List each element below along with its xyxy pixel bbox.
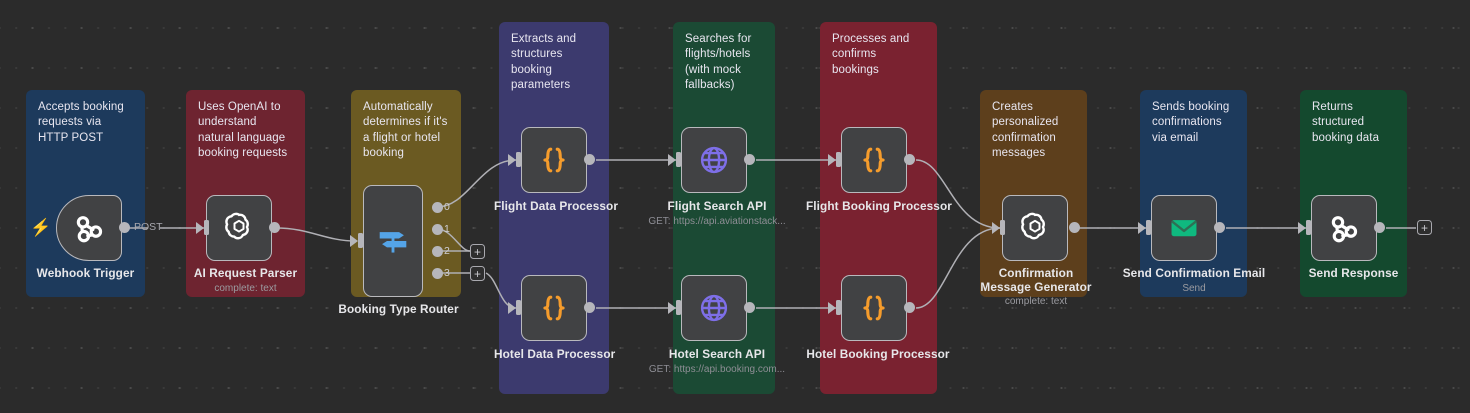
- port-in-email[interactable]: [1146, 220, 1151, 235]
- sticky-note-text: Accepts booking requests via HTTP POST: [38, 101, 124, 144]
- node-subtitle-ai-request-parser: complete: text: [186, 283, 305, 294]
- connector-label-post: POST: [134, 221, 163, 233]
- port-in-hotel-booking[interactable]: [836, 300, 841, 315]
- port-out-flight-search[interactable]: [744, 154, 755, 165]
- port-in-flight-data[interactable]: [516, 152, 521, 167]
- node-label-booking-type-router: Booking Type Router: [336, 302, 461, 316]
- port-number-3: 3: [444, 267, 450, 279]
- sticky-note-text: Returns structured booking data: [1312, 101, 1379, 144]
- port-out-hotel-data[interactable]: [584, 302, 595, 313]
- port-in-arrow-router: [350, 235, 358, 247]
- port-number-0: 0: [444, 201, 450, 213]
- node-label-flight-search-api: Flight Search API: [654, 199, 780, 213]
- openai-icon: [1017, 210, 1053, 246]
- port-out-confirmation[interactable]: [1069, 222, 1080, 233]
- node-confirmation-message-generator[interactable]: [1002, 195, 1068, 261]
- port-in-hotel-search[interactable]: [676, 300, 681, 315]
- sticky-note-text: Sends booking confirmations via email: [1152, 101, 1229, 144]
- port-in-arrow-confirmation: [992, 222, 1000, 234]
- node-send-confirmation-email[interactable]: [1151, 195, 1217, 261]
- add-node-label: +: [474, 246, 481, 258]
- globe-icon: [697, 291, 731, 325]
- port-out-router-0[interactable]: [432, 202, 443, 213]
- node-hotel-data-processor[interactable]: [521, 275, 587, 341]
- trigger-bolt-icon: ⚡: [30, 219, 51, 236]
- port-out-router-2[interactable]: [432, 246, 443, 257]
- port-number-1: 1: [444, 223, 450, 235]
- node-flight-data-processor[interactable]: [521, 127, 587, 193]
- add-node-label: +: [1421, 222, 1428, 234]
- port-in-flight-search[interactable]: [676, 152, 681, 167]
- port-in-arrow-email: [1138, 222, 1146, 234]
- node-subtitle-confirmation-message-generator: complete: text: [972, 296, 1100, 307]
- port-in-arrow-ai-parser: [196, 222, 204, 234]
- node-flight-search-api[interactable]: [681, 127, 747, 193]
- port-in-arrow-flight-booking: [828, 154, 836, 166]
- globe-icon: [697, 143, 731, 177]
- add-node-button-port3[interactable]: +: [470, 266, 485, 281]
- port-number-2: 2: [444, 245, 450, 257]
- envelope-icon: [1167, 211, 1201, 245]
- port-out-response[interactable]: [1374, 222, 1385, 233]
- port-in-arrow-response: [1298, 222, 1306, 234]
- node-ai-request-parser[interactable]: [206, 195, 272, 261]
- sticky-note-text: Processes and confirms bookings: [832, 33, 909, 76]
- port-in-arrow-hotel-data: [508, 302, 516, 314]
- port-out-webhook[interactable]: [119, 222, 130, 233]
- node-label-flight-booking-processor: Flight Booking Processor: [806, 199, 950, 213]
- port-in-arrow-flight-data: [508, 154, 516, 166]
- node-label-hotel-data-processor: Hotel Data Processor: [494, 347, 614, 361]
- node-label-webhook-trigger: Webhook Trigger: [26, 266, 145, 280]
- sticky-note-text: Extracts and structures booking paramete…: [511, 33, 576, 91]
- add-node-button-port2[interactable]: +: [470, 244, 485, 259]
- port-in-router[interactable]: [358, 233, 363, 248]
- code-icon: [537, 291, 571, 325]
- node-subtitle-send-confirmation-email: Send: [1120, 283, 1268, 294]
- sticky-note-text: Creates personalized confirmation messag…: [992, 101, 1058, 159]
- node-send-response[interactable]: [1311, 195, 1377, 261]
- node-label-confirmation-message-generator: Confirmation Message Generator: [972, 266, 1100, 294]
- port-in-hotel-data[interactable]: [516, 300, 521, 315]
- port-out-router-1[interactable]: [432, 224, 443, 235]
- port-out-router-3[interactable]: [432, 268, 443, 279]
- node-label-hotel-search-api: Hotel Search API: [654, 347, 780, 361]
- switch-icon: [374, 222, 412, 260]
- node-label-send-confirmation-email: Send Confirmation Email: [1120, 266, 1268, 280]
- port-in-flight-booking[interactable]: [836, 152, 841, 167]
- port-in-arrow-flight-search: [668, 154, 676, 166]
- webhook-icon: [1326, 210, 1362, 246]
- node-webhook-trigger[interactable]: [56, 195, 122, 261]
- openai-icon: [221, 210, 257, 246]
- code-icon: [857, 143, 891, 177]
- add-node-label: +: [474, 268, 481, 280]
- port-in-arrow-hotel-search: [668, 302, 676, 314]
- webhook-icon: [71, 210, 107, 246]
- sticky-note-text: Automatically determines if it's a fligh…: [363, 101, 448, 159]
- node-booking-type-router[interactable]: [363, 185, 423, 297]
- node-label-ai-request-parser: AI Request Parser: [186, 266, 305, 280]
- node-flight-booking-processor[interactable]: [841, 127, 907, 193]
- port-out-flight-data[interactable]: [584, 154, 595, 165]
- node-subtitle-hotel-search-api: GET: https://api.booking.com...: [624, 364, 810, 375]
- node-label-flight-data-processor: Flight Data Processor: [494, 199, 614, 213]
- add-node-button-end[interactable]: +: [1417, 220, 1432, 235]
- code-icon: [857, 291, 891, 325]
- code-icon: [537, 143, 571, 177]
- node-hotel-search-api[interactable]: [681, 275, 747, 341]
- port-out-hotel-booking[interactable]: [904, 302, 915, 313]
- port-out-ai-parser[interactable]: [269, 222, 280, 233]
- port-out-hotel-search[interactable]: [744, 302, 755, 313]
- workflow-canvas[interactable]: Accepts booking requests via HTTP POST U…: [0, 0, 1470, 413]
- port-in-ai-parser[interactable]: [204, 220, 209, 235]
- node-label-send-response: Send Response: [1294, 266, 1413, 280]
- port-out-email[interactable]: [1214, 222, 1225, 233]
- node-hotel-booking-processor[interactable]: [841, 275, 907, 341]
- node-subtitle-flight-search-api: GET: https://api.aviationstack...: [624, 216, 810, 227]
- sticky-note-text: Searches for flights/hotels (with mock f…: [685, 33, 751, 91]
- node-label-hotel-booking-processor: Hotel Booking Processor: [806, 347, 950, 361]
- port-out-flight-booking[interactable]: [904, 154, 915, 165]
- port-in-response[interactable]: [1306, 220, 1311, 235]
- sticky-note-text: Uses OpenAI to understand natural langua…: [198, 101, 287, 159]
- port-in-arrow-hotel-booking: [828, 302, 836, 314]
- port-in-confirmation[interactable]: [1000, 220, 1005, 235]
